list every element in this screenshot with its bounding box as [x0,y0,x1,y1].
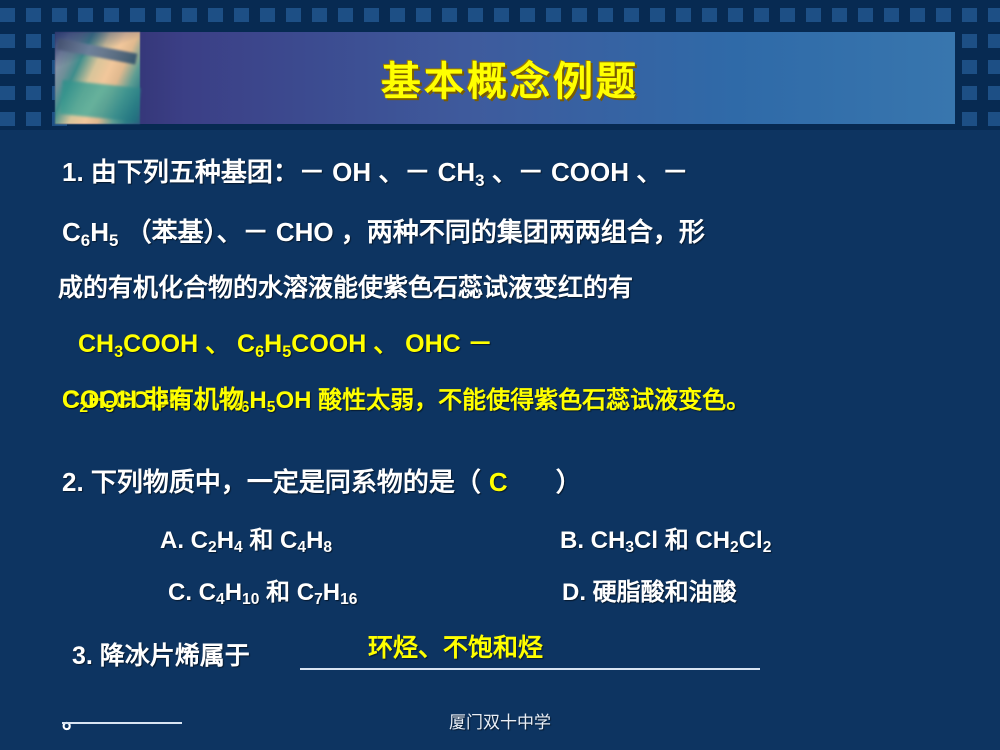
page-title: 基本概念例题 [55,32,955,124]
decorative-square [962,86,977,100]
decorative-square [468,8,483,22]
question-1-line-3: 成的有机化合物的水溶液能使紫色石蕊试液变红的有 [58,268,633,304]
decorative-square [832,8,847,22]
decorative-square [988,60,1000,74]
decorative-square [650,8,665,22]
decorative-square [0,8,15,22]
question-2-prompt: 2. 下列物质中，一定是同系物的是（C） [62,462,582,499]
decorative-square [962,60,977,74]
decorative-square [962,112,977,126]
decorative-square [676,8,691,22]
decorative-square [156,8,171,22]
decorative-square [962,8,977,22]
decorative-square [182,8,197,22]
question-2-option-d[interactable]: D. 硬脂酸和油酸 [562,572,737,607]
decorative-square [546,8,561,22]
decorative-square [988,34,1000,48]
decorative-square [0,112,15,126]
question-2-option-c[interactable]: C. C4H10 和 C7H16 [168,572,357,607]
question-1-line-1: 1. 由下列五种基团：－ OH 、－ CH3 、－ COOH 、－ [62,152,688,189]
decorative-square [0,86,15,100]
decorative-square [728,8,743,22]
decorative-square [0,60,15,74]
decorative-square [286,8,301,22]
decorative-square [780,8,795,22]
decorative-square [208,8,223,22]
decorative-square [572,8,587,22]
decorative-square [130,8,145,22]
decorative-square [312,8,327,22]
decorative-square [910,8,925,22]
question-1-answer-continuation-overlay: COOH 非有机物 [62,380,244,416]
decorative-square [962,34,977,48]
decorative-square [338,8,353,22]
decorative-square [26,34,41,48]
decorative-square [494,8,509,22]
slide-canvas: 基本概念例题 1. 由下列五种基团：－ OH 、－ CH3 、－ COOH 、－… [0,0,1000,750]
decorative-square [754,8,769,22]
decorative-square [988,8,1000,22]
decorative-square [702,8,717,22]
decorative-square [858,8,873,22]
question-2-prompt-prefix: 2. 下列物质中，一定是同系物的是（ [62,467,481,497]
question-1-line-2: C6H5 （苯基）、－ CHO ，两种不同的集团两两组合，形 [62,212,705,249]
decorative-square [26,60,41,74]
question-3-answer: 环烃、不饱和烃 [368,628,543,664]
question-2-option-b[interactable]: B. CH3Cl 和 CH2Cl2 [560,520,771,555]
title-banner: 基本概念例题 [55,32,955,124]
question-3-blank-rule [300,668,760,670]
decorative-square [26,8,41,22]
decorative-square [884,8,899,22]
decorative-square [390,8,405,22]
decorative-square [26,112,41,126]
decorative-square [416,8,431,22]
question-2-option-a[interactable]: A. C2H4 和 C4H8 [160,520,332,555]
footer-school-name: 厦门双十中学 [0,708,1000,733]
question-2-selected-answer: C [481,467,556,497]
decorative-square [104,8,119,22]
question-3-prompt: 3. 降冰片烯属于 [72,636,250,672]
decorative-square [26,86,41,100]
question-1-answer: CH3COOH 、 C6H5COOH 、 OHC － [78,324,493,360]
decorative-square [988,86,1000,100]
decorative-square [78,8,93,22]
decorative-square [520,8,535,22]
decorative-square [598,8,613,22]
decorative-square [52,8,67,22]
decorative-square [364,8,379,22]
decorative-square [234,8,249,22]
decorative-square [260,8,275,22]
decorative-square [624,8,639,22]
question-2-prompt-suffix: ） [556,467,582,497]
decorative-square [806,8,821,22]
decorative-square [988,112,1000,126]
decorative-square [936,8,951,22]
decorative-square [0,34,15,48]
decorative-square [442,8,457,22]
